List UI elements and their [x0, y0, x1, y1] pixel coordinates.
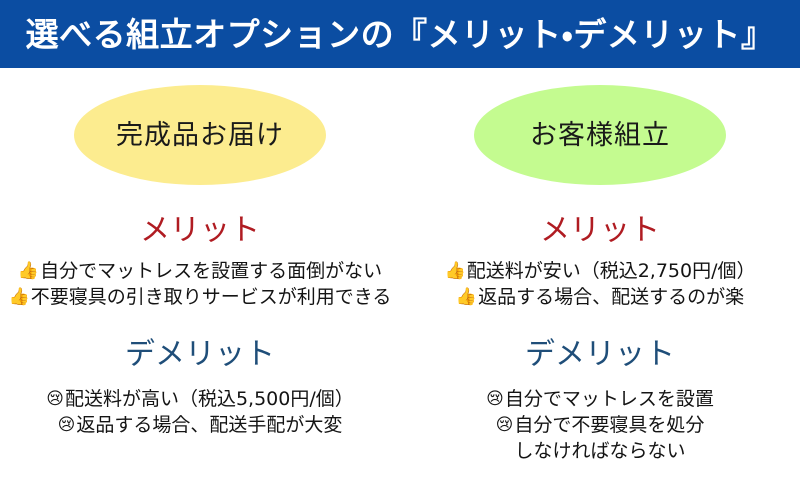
demerit-heading-right: デメリット	[400, 340, 800, 370]
list-item-label: 返品する場合、配送するのが楽	[478, 284, 744, 310]
ellipse-label-left: 完成品お届け	[116, 122, 284, 149]
list-item: 👍 返品する場合、配送するのが楽	[456, 284, 744, 310]
list-item-label: 不要寝具の引き取りサービスが利用できる	[31, 284, 392, 310]
page-title: 選べる組立オプションの『メリット・デメリット』	[26, 18, 775, 51]
thumbs-up-icon: 👍	[456, 289, 477, 306]
merit-heading-right: メリット	[400, 216, 800, 246]
demerit-heading-left: デメリット	[0, 340, 400, 370]
infographic-page: 選べる組立オプションの『メリット・デメリット』 完成品お届け メリット 👍 自分…	[0, 0, 800, 500]
list-item: 👍 配送料が安い（税込2,750円/個）	[445, 258, 756, 284]
crying-face-icon: 😢	[496, 417, 514, 434]
merit-list-right: 👍 配送料が安い（税込2,750円/個） 👍 返品する場合、配送するのが楽	[400, 258, 800, 310]
list-item: 😢 自分で不要寝具を処分	[496, 412, 705, 438]
ellipse-label-right: お客様組立	[530, 122, 670, 149]
comparison-columns: 完成品お届け メリット 👍 自分でマットレスを設置する面倒がない 👍 不要寝具の…	[0, 68, 800, 500]
crying-face-icon: 😢	[58, 417, 76, 434]
list-item-label: 配送料が高い（税込5,500円/個）	[65, 386, 354, 412]
list-item-continuation: しなければならない	[514, 438, 685, 464]
list-item: 😢 返品する場合、配送手配が大変	[58, 412, 343, 438]
thumbs-up-icon: 👍	[18, 263, 39, 280]
list-item-label: 自分でマットレスを設置	[505, 386, 714, 412]
column-customer-assembly: お客様組立 メリット 👍 配送料が安い（税込2,750円/個） 👍 返品する場合…	[400, 68, 800, 500]
demerit-list-left: 😢 配送料が高い（税込5,500円/個） 😢 返品する場合、配送手配が大変	[0, 386, 400, 438]
ellipse-heading-left-wrap: 完成品お届け	[0, 85, 400, 185]
thumbs-up-icon: 👍	[9, 289, 30, 306]
column-assembled-delivery: 完成品お届け メリット 👍 自分でマットレスを設置する面倒がない 👍 不要寝具の…	[0, 68, 400, 500]
demerit-list-right: 😢 自分でマットレスを設置 😢 自分で不要寝具を処分 しなければならない	[400, 386, 800, 464]
thumbs-up-icon: 👍	[445, 263, 466, 280]
list-item: 👍 自分でマットレスを設置する面倒がない	[18, 258, 382, 284]
crying-face-icon: 😢	[46, 391, 64, 408]
merit-heading-left: メリット	[0, 216, 400, 246]
list-item: 😢 配送料が高い（税込5,500円/個）	[46, 386, 354, 412]
list-item-label: 返品する場合、配送手配が大変	[76, 412, 342, 438]
list-item-label: しなければならない	[514, 438, 685, 464]
list-item-label: 自分でマットレスを設置する面倒がない	[40, 258, 382, 284]
merit-list-left: 👍 自分でマットレスを設置する面倒がない 👍 不要寝具の引き取りサービスが利用で…	[0, 258, 400, 310]
ellipse-heading-right-wrap: お客様組立	[400, 85, 800, 185]
ellipse-heading-left: 完成品お届け	[74, 85, 326, 185]
ellipse-heading-right: お客様組立	[474, 85, 726, 185]
list-item-label: 配送料が安い（税込2,750円/個）	[467, 258, 756, 284]
list-item: 😢 自分でマットレスを設置	[486, 386, 714, 412]
header-banner: 選べる組立オプションの『メリット・デメリット』	[0, 0, 800, 68]
list-item-label: 自分で不要寝具を処分	[514, 412, 704, 438]
list-item: 👍 不要寝具の引き取りサービスが利用できる	[9, 284, 392, 310]
crying-face-icon: 😢	[486, 391, 504, 408]
